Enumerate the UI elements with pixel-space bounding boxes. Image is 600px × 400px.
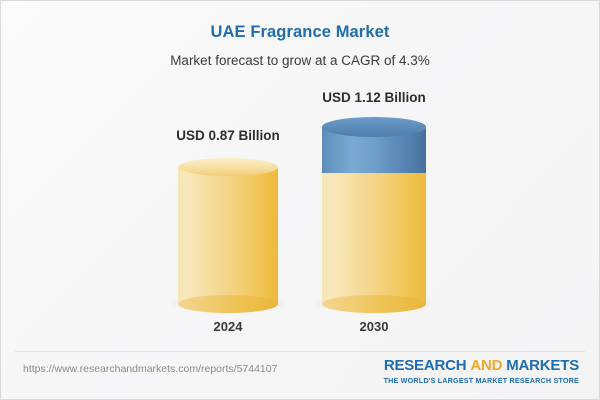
bar-value-label-2024: USD 0.87 Billion xyxy=(176,128,280,143)
plot-area: USD 0.87 Billion 2024 USD 1.12 Billion xyxy=(1,1,600,349)
brand-word-markets: MARKETS xyxy=(506,357,579,374)
bar-segment-base-2030 xyxy=(322,173,426,304)
chart-card: UAE Fragrance Market Market forecast to … xyxy=(0,0,600,400)
bar-segment-growth-2030 xyxy=(322,127,426,173)
report-url[interactable]: https://www.researchandmarkets.com/repor… xyxy=(23,363,277,375)
brand-name: RESEARCH AND MARKETS xyxy=(384,358,579,373)
bar-category-label-2030: 2030 xyxy=(360,319,389,334)
brand-logo[interactable]: RESEARCH AND MARKETS THE WORLD'S LARGEST… xyxy=(384,358,579,384)
bar-segment-base-2024 xyxy=(178,167,278,304)
brand-word-and: AND xyxy=(470,357,502,374)
bar-group-2030[interactable]: USD 1.12 Billion 2030 xyxy=(322,1,426,349)
brand-word-research: RESEARCH xyxy=(384,357,467,374)
brand-tagline: THE WORLD'S LARGEST MARKET RESEARCH STOR… xyxy=(384,377,579,384)
bar-cylinder-2024 xyxy=(178,158,278,304)
cylinder-top-cap-2024 xyxy=(178,158,278,176)
cylinder-top-cap-2030 xyxy=(322,117,426,137)
bar-value-label-2030: USD 1.12 Billion xyxy=(322,90,426,105)
bar-category-label-2024: 2024 xyxy=(214,319,243,334)
footer-divider xyxy=(15,351,585,352)
bar-group-2024[interactable]: USD 0.87 Billion 2024 xyxy=(178,1,278,349)
cylinder-bottom-cap-2030 xyxy=(322,295,426,313)
bar-cylinder-2030 xyxy=(322,118,426,304)
cylinder-bottom-cap-2024 xyxy=(178,295,278,313)
